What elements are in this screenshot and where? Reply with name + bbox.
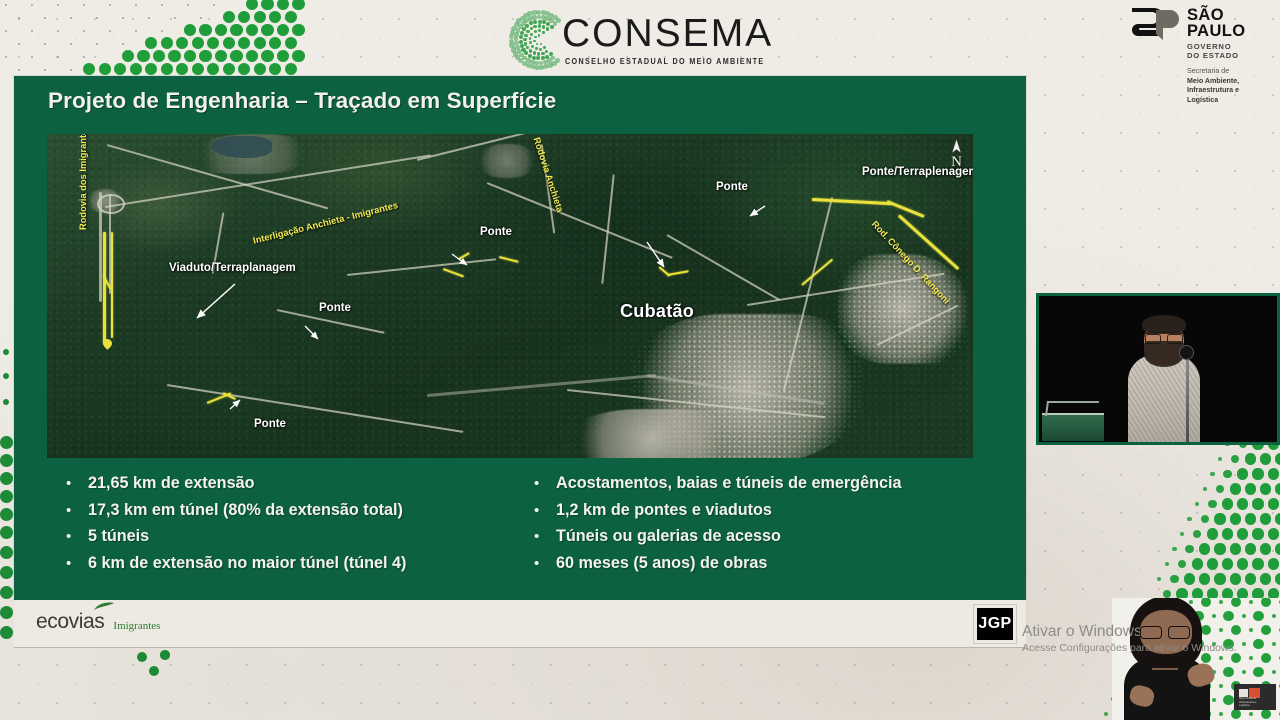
halftone-dot (1180, 532, 1184, 536)
halftone-dot (1237, 528, 1248, 539)
sao-paulo-line2: PAULO (1187, 24, 1246, 40)
bullet-item: •60 meses (5 anos) de obras (534, 554, 1004, 572)
halftone-dot (174, 17, 177, 20)
halftone-dot (1249, 628, 1253, 632)
halftone-dot (1242, 670, 1246, 674)
halftone-dot (526, 30, 529, 33)
halftone-dot (223, 63, 235, 75)
halftone-dot (0, 436, 13, 449)
halftone-dot (5, 30, 8, 33)
map-label-ponte-1: Ponte (319, 302, 351, 314)
halftone-dot (538, 29, 541, 32)
halftone-dot (1231, 625, 1241, 635)
secretariat-badge-overlay: Meio Ambiente,Infraestrutura eLogística (1234, 684, 1276, 710)
halftone-dot (1268, 468, 1279, 479)
halftone-dot (1245, 543, 1256, 554)
halftone-dot (1231, 455, 1239, 463)
halftone-dot (541, 52, 544, 55)
halftone-dot (1275, 453, 1280, 464)
halftone-dot (520, 31, 524, 35)
halftone-triangle-top-left (0, 0, 330, 76)
halftone-dot (1189, 600, 1193, 604)
bullet-marker: • (534, 476, 556, 491)
halftone-dot (109, 30, 112, 33)
sao-paulo-government-logo: SÃO PAULO GOVERNO DO ESTADO Secretaria d… (1130, 8, 1270, 106)
halftone-dot (524, 34, 527, 37)
bullet-item: •6 km de extensão no maior túnel (túnel … (66, 554, 536, 572)
halftone-dot (261, 50, 273, 62)
map-label-cubatao: Cubatão (620, 301, 694, 322)
halftone-dot (1272, 670, 1276, 674)
halftone-dot (545, 50, 548, 53)
bullet-text: 5 túneis (88, 527, 149, 545)
halftone-dot (1172, 547, 1176, 551)
halftone-dot (1245, 513, 1256, 524)
halftone-dot (533, 51, 536, 54)
halftone-dot (1192, 558, 1203, 569)
halftone-dot (269, 37, 281, 49)
halftone-dot (529, 49, 532, 52)
halftone-dot (539, 65, 544, 70)
halftone-dot (1252, 528, 1263, 539)
halftone-dot (1195, 502, 1199, 506)
halftone-dot (1222, 528, 1233, 539)
halftone-dot (285, 11, 297, 23)
halftone-dot (543, 46, 546, 49)
halftone-dot (161, 4, 164, 7)
satellite-map: Rodovia dos Imigrantes Interligação Anch… (47, 134, 973, 458)
secretariat-line3: Infraestrutura (1187, 86, 1233, 94)
halftone-dot (1193, 530, 1201, 538)
bullet-marker: • (66, 529, 88, 544)
halftone-dot (207, 63, 219, 75)
halftone-dot (1207, 528, 1218, 539)
halftone-dot (1201, 515, 1209, 523)
halftone-dot (1216, 485, 1224, 493)
consema-mark-icon (508, 9, 570, 71)
halftone-dot (161, 63, 173, 75)
halftone-dot (1237, 468, 1248, 479)
halftone-dot (1201, 598, 1211, 607)
halftone-dot (1210, 472, 1214, 476)
halftone-dot (207, 37, 219, 49)
bullet-item: •5 túneis (66, 527, 536, 545)
halftone-dot (1260, 483, 1271, 494)
halftone-dot (1199, 573, 1210, 584)
map-label-ponte-4: Ponte (716, 181, 748, 193)
halftone-dot (70, 43, 73, 46)
halftone-dot (1223, 667, 1233, 677)
halftone-dot (1245, 483, 1256, 494)
slide-footer: ecovias Imigrantes JGP (14, 600, 1026, 648)
halftone-dot (1214, 543, 1225, 554)
halftone-dot (1237, 558, 1248, 569)
halftone-dot (44, 17, 47, 20)
halftone-dot (168, 50, 180, 62)
halftone-dot (269, 63, 281, 75)
halftone-dot (530, 33, 533, 36)
halftone-dot (1253, 639, 1263, 649)
halftone-dot (254, 37, 266, 49)
halftone-dot (18, 69, 21, 72)
halftone-dot (192, 37, 204, 49)
consema-subtitle: CONSELHO ESTADUAL DO MEIO AMBIENTE (565, 56, 773, 66)
halftone-dot (176, 37, 188, 49)
halftone-dot (238, 63, 250, 75)
north-arrow-label: N (951, 154, 962, 170)
halftone-dot (137, 652, 147, 662)
bullet-text: 60 meses (5 anos) de obras (556, 554, 767, 572)
bullet-item: •17,3 km em túnel (80% da extensão total… (66, 501, 536, 519)
sao-paulo-sp-mark-icon (1130, 8, 1180, 42)
halftone-dot (1275, 513, 1280, 524)
halftone-dot (1260, 573, 1271, 584)
halftone-dot (533, 25, 536, 28)
halftone-dot (538, 24, 541, 27)
halftone-dot (223, 11, 235, 23)
halftone-dot (187, 4, 190, 7)
halftone-dot (246, 24, 258, 36)
secretariat-line1: Secretaria de (1187, 67, 1270, 77)
halftone-dot (96, 43, 99, 46)
halftone-dot (538, 34, 540, 36)
halftone-dot (269, 11, 281, 23)
halftone-dot (0, 566, 13, 579)
halftone-dot (18, 17, 21, 20)
halftone-dot (83, 63, 95, 75)
halftone-dot (285, 37, 297, 49)
bullet-list-right: •Acostamentos, baias e túneis de emergên… (534, 474, 1004, 581)
halftone-dot (1184, 573, 1195, 584)
bullet-marker: • (534, 503, 556, 518)
halftone-dot (546, 27, 549, 30)
halftone-dot (5, 4, 8, 7)
halftone-dot (1212, 642, 1216, 646)
halftone-dot (533, 20, 537, 24)
halftone-dot (261, 0, 273, 10)
halftone-dot (1219, 684, 1223, 688)
halftone-dot (44, 69, 47, 72)
halftone-dot (1219, 712, 1223, 716)
halftone-dot (70, 17, 73, 20)
halftone-dot (1231, 598, 1241, 607)
halftone-dot (542, 25, 545, 28)
halftone-dot (31, 56, 34, 59)
halftone-dot (135, 4, 138, 7)
halftone-dot (1163, 590, 1171, 598)
halftone-dot (534, 36, 536, 38)
halftone-dot (57, 30, 60, 33)
halftone-dot (292, 50, 304, 62)
halftone-dot (547, 63, 552, 68)
halftone-dot (1212, 614, 1216, 618)
halftone-dot (0, 606, 13, 619)
halftone-dot (184, 24, 196, 36)
halftone-dot (519, 35, 523, 39)
halftone-dot (57, 4, 60, 7)
halftone-dot (1231, 709, 1241, 719)
halftone-dot (1104, 712, 1108, 716)
halftone-dot (1275, 543, 1280, 554)
halftone-dot (1261, 598, 1271, 607)
halftone-dot (535, 47, 538, 50)
halftone-dot (1230, 543, 1241, 554)
halftone-dot (83, 56, 86, 59)
halftone-dot (230, 24, 242, 36)
microphone-stand (1186, 353, 1189, 445)
halftone-dot (1261, 709, 1271, 719)
halftone-dot (1230, 573, 1241, 584)
halftone-dot (1268, 498, 1279, 509)
halftone-dot (1218, 457, 1222, 461)
halftone-dot (1253, 667, 1263, 677)
halftone-dot (533, 40, 535, 42)
halftone-dot (238, 37, 250, 49)
halftone-dot (539, 48, 542, 51)
halftone-dot (0, 546, 13, 559)
halftone-dot (529, 41, 532, 44)
bullet-text: Acostamentos, baias e túneis de emergênc… (556, 474, 901, 492)
halftone-dot (122, 43, 125, 46)
halftone-dot (0, 626, 13, 639)
halftone-dot (1207, 558, 1218, 569)
halftone-dot (277, 50, 289, 62)
halftone-dot (1219, 600, 1223, 604)
bullet-marker: • (534, 529, 556, 544)
halftone-dot (1212, 698, 1216, 702)
halftone-dot (292, 24, 304, 36)
halftone-dot (254, 63, 266, 75)
halftone-dot (99, 63, 111, 75)
bullet-list-left: •21,65 km de extensão•17,3 km em túnel (… (66, 474, 536, 581)
speaker-body (1128, 355, 1200, 445)
halftone-dot (230, 50, 242, 62)
bullet-item: •1,2 km de pontes e viadutos (534, 501, 1004, 519)
halftone-dot (114, 63, 126, 75)
halftone-dot (246, 50, 258, 62)
halftone-dot (536, 43, 538, 45)
halftone-dot (1245, 573, 1256, 584)
bullet-item: •21,65 km de extensão (66, 474, 536, 492)
halftone-dot (109, 4, 112, 7)
halftone-dot (199, 50, 211, 62)
halftone-dot (1222, 498, 1233, 509)
halftone-dot (1252, 498, 1263, 509)
secretariat-line2: Meio Ambiente, (1187, 77, 1239, 85)
bullet-marker: • (66, 476, 88, 491)
halftone-dot (520, 44, 524, 48)
halftone-dot (57, 56, 60, 59)
halftone-dot (145, 37, 157, 49)
halftone-dot (1219, 656, 1223, 660)
halftone-dot (18, 43, 21, 46)
halftone-dot (3, 373, 10, 380)
halftone-dot (83, 4, 86, 7)
halftone-dot (1223, 695, 1233, 705)
halftone-dot (96, 17, 99, 20)
halftone-dot (519, 40, 523, 44)
speaker-beard (1144, 341, 1184, 367)
halftone-dot (1253, 611, 1263, 621)
halftone-dot (160, 650, 169, 659)
halftone-dot (215, 50, 227, 62)
jgp-logo: JGP (974, 605, 1016, 643)
bullet-text: 1,2 km de pontes e viadutos (556, 501, 772, 519)
halftone-dot (1252, 468, 1263, 479)
halftone-dot (1185, 545, 1193, 553)
bullet-marker: • (66, 503, 88, 518)
halftone-dot (536, 56, 540, 60)
map-label-ponte-3: Ponte (254, 418, 286, 430)
interpreter-glasses-icon (1140, 626, 1190, 637)
halftone-dot (0, 586, 13, 599)
halftone-dot (1208, 500, 1216, 508)
sao-paulo-secretariat: Secretaria de Meio Ambiente, Infraestrut… (1187, 67, 1270, 105)
halftone-dot (223, 37, 235, 49)
halftone-dot (0, 526, 13, 539)
halftone-dot (540, 43, 542, 45)
halftone-dot (70, 69, 73, 72)
halftone-dot (1223, 639, 1233, 649)
bullet-marker: • (534, 556, 556, 571)
halftone-dot (1245, 453, 1256, 464)
halftone-dot (542, 31, 545, 34)
halftone-dot (514, 41, 519, 46)
halftone-dot (261, 24, 273, 36)
presentation-slide: Projeto de Engenharia – Traçado em Super… (14, 76, 1026, 600)
urban-patch-north (477, 144, 537, 178)
halftone-dot (1272, 642, 1276, 646)
halftone-dot (1214, 573, 1225, 584)
bullet-text: Túneis ou galerias de acesso (556, 527, 781, 545)
halftone-dot (1230, 513, 1241, 524)
halftone-dot (511, 47, 516, 52)
halftone-dot (1252, 558, 1263, 569)
halftone-dot (1219, 628, 1223, 632)
halftone-dot (292, 0, 304, 10)
podium (1042, 413, 1104, 441)
halftone-dot (161, 37, 173, 49)
halftone-dot (1157, 577, 1161, 581)
halftone-dot (153, 50, 165, 62)
halftone-dot (285, 63, 297, 75)
slide-title: Projeto de Engenharia – Traçado em Super… (48, 88, 556, 114)
halftone-dot (199, 24, 211, 36)
halftone-dot (130, 63, 142, 75)
halftone-dot (31, 30, 34, 33)
halftone-dot (0, 472, 13, 485)
halftone-dot (213, 4, 216, 7)
sao-paulo-gov-line2: DO ESTADO (1187, 52, 1246, 61)
halftone-dot (1249, 656, 1253, 660)
halftone-dot (0, 508, 13, 521)
microphone-icon (1179, 345, 1194, 360)
halftone-dot (277, 24, 289, 36)
halftone-dot (238, 11, 250, 23)
halftone-dot (5, 56, 8, 59)
halftone-dot (1268, 558, 1279, 569)
halftone-dot (1223, 611, 1233, 621)
halftone-dot (1201, 653, 1211, 663)
halftone-dot (0, 490, 13, 503)
cloverleaf-loop (97, 194, 125, 214)
halftone-dot (1261, 625, 1271, 635)
halftone-dot (1203, 487, 1207, 491)
halftone-dot (534, 30, 537, 33)
halftone-dot (1165, 562, 1169, 566)
halftone-dot (1230, 483, 1241, 494)
halftone-dot (1199, 543, 1210, 554)
halftone-dot (514, 32, 519, 37)
bullet-marker: • (66, 556, 88, 571)
halftone-dot (83, 30, 86, 33)
halftone-dot (44, 43, 47, 46)
halftone-dot (531, 45, 534, 48)
halftone-dot (1275, 573, 1280, 584)
ecovias-wordmark: ecovias (36, 610, 104, 634)
halftone-dot (122, 50, 134, 62)
halftone-dot (122, 17, 125, 20)
halftone-dot (529, 37, 532, 40)
screen-root: CONSEMA CONSELHO ESTADUAL DO MEIO AMBIEN… (0, 0, 1280, 720)
speaker-glasses-icon (1144, 332, 1184, 340)
halftone-dot (254, 11, 266, 23)
halftone-dot (1201, 625, 1211, 635)
halftone-dot (523, 38, 526, 41)
halftone-dot (1214, 513, 1225, 524)
halftone-dot (1222, 558, 1233, 569)
halftone-dot (1268, 528, 1279, 539)
halftone-dot (1260, 543, 1271, 554)
halftone-dot (1275, 483, 1280, 494)
halftone-dot (148, 17, 151, 20)
map-label-viaduto-terraplanagem: Viaduto/Terraplanagem (169, 262, 296, 274)
speaker-video-panel[interactable] (1036, 293, 1280, 445)
halftone-dot (1223, 470, 1231, 478)
halftone-dot (1260, 453, 1271, 464)
ecovias-logo: ecovias Imigrantes (36, 610, 160, 634)
halftone-dot (1242, 614, 1246, 618)
halftone-dot (509, 43, 514, 48)
halftone-dot (31, 4, 34, 7)
speaker-hair (1142, 315, 1186, 333)
map-label-ponte-2: Ponte (480, 226, 512, 238)
halftone-dot (184, 50, 196, 62)
bullet-text: 6 km de extensão no maior túnel (túnel 4… (88, 554, 406, 572)
halftone-dot (3, 349, 10, 356)
map-label-rodovia-imigrantes: Rodovia dos Imigrantes (78, 134, 88, 230)
bullet-text: 17,3 km em túnel (80% da extensão total) (88, 501, 403, 519)
consema-logo: CONSEMA CONSELHO ESTADUAL DO MEIO AMBIEN… (508, 4, 778, 76)
bullet-item: •Acostamentos, baias e túneis de emergên… (534, 474, 1004, 492)
halftone-dot (556, 18, 561, 23)
halftone-dot (1178, 560, 1186, 568)
halftone-dot (1249, 600, 1253, 604)
halftone-dot (3, 399, 10, 406)
halftone-dot (0, 454, 13, 467)
halftone-dot (537, 52, 540, 55)
halftone-dot (1272, 614, 1276, 618)
halftone-dot (534, 65, 539, 70)
halftone-dot (1237, 498, 1248, 509)
halftone-dot (521, 48, 525, 52)
sign-language-video-panel[interactable]: Meio Ambiente,Infraestrutura eLogística (1112, 598, 1280, 720)
bullet-text: 21,65 km de extensão (88, 474, 254, 492)
halftone-dot (1249, 712, 1253, 716)
halftone-dot (149, 666, 159, 676)
halftone-dot (277, 0, 289, 10)
halftone-dot (1242, 642, 1246, 646)
